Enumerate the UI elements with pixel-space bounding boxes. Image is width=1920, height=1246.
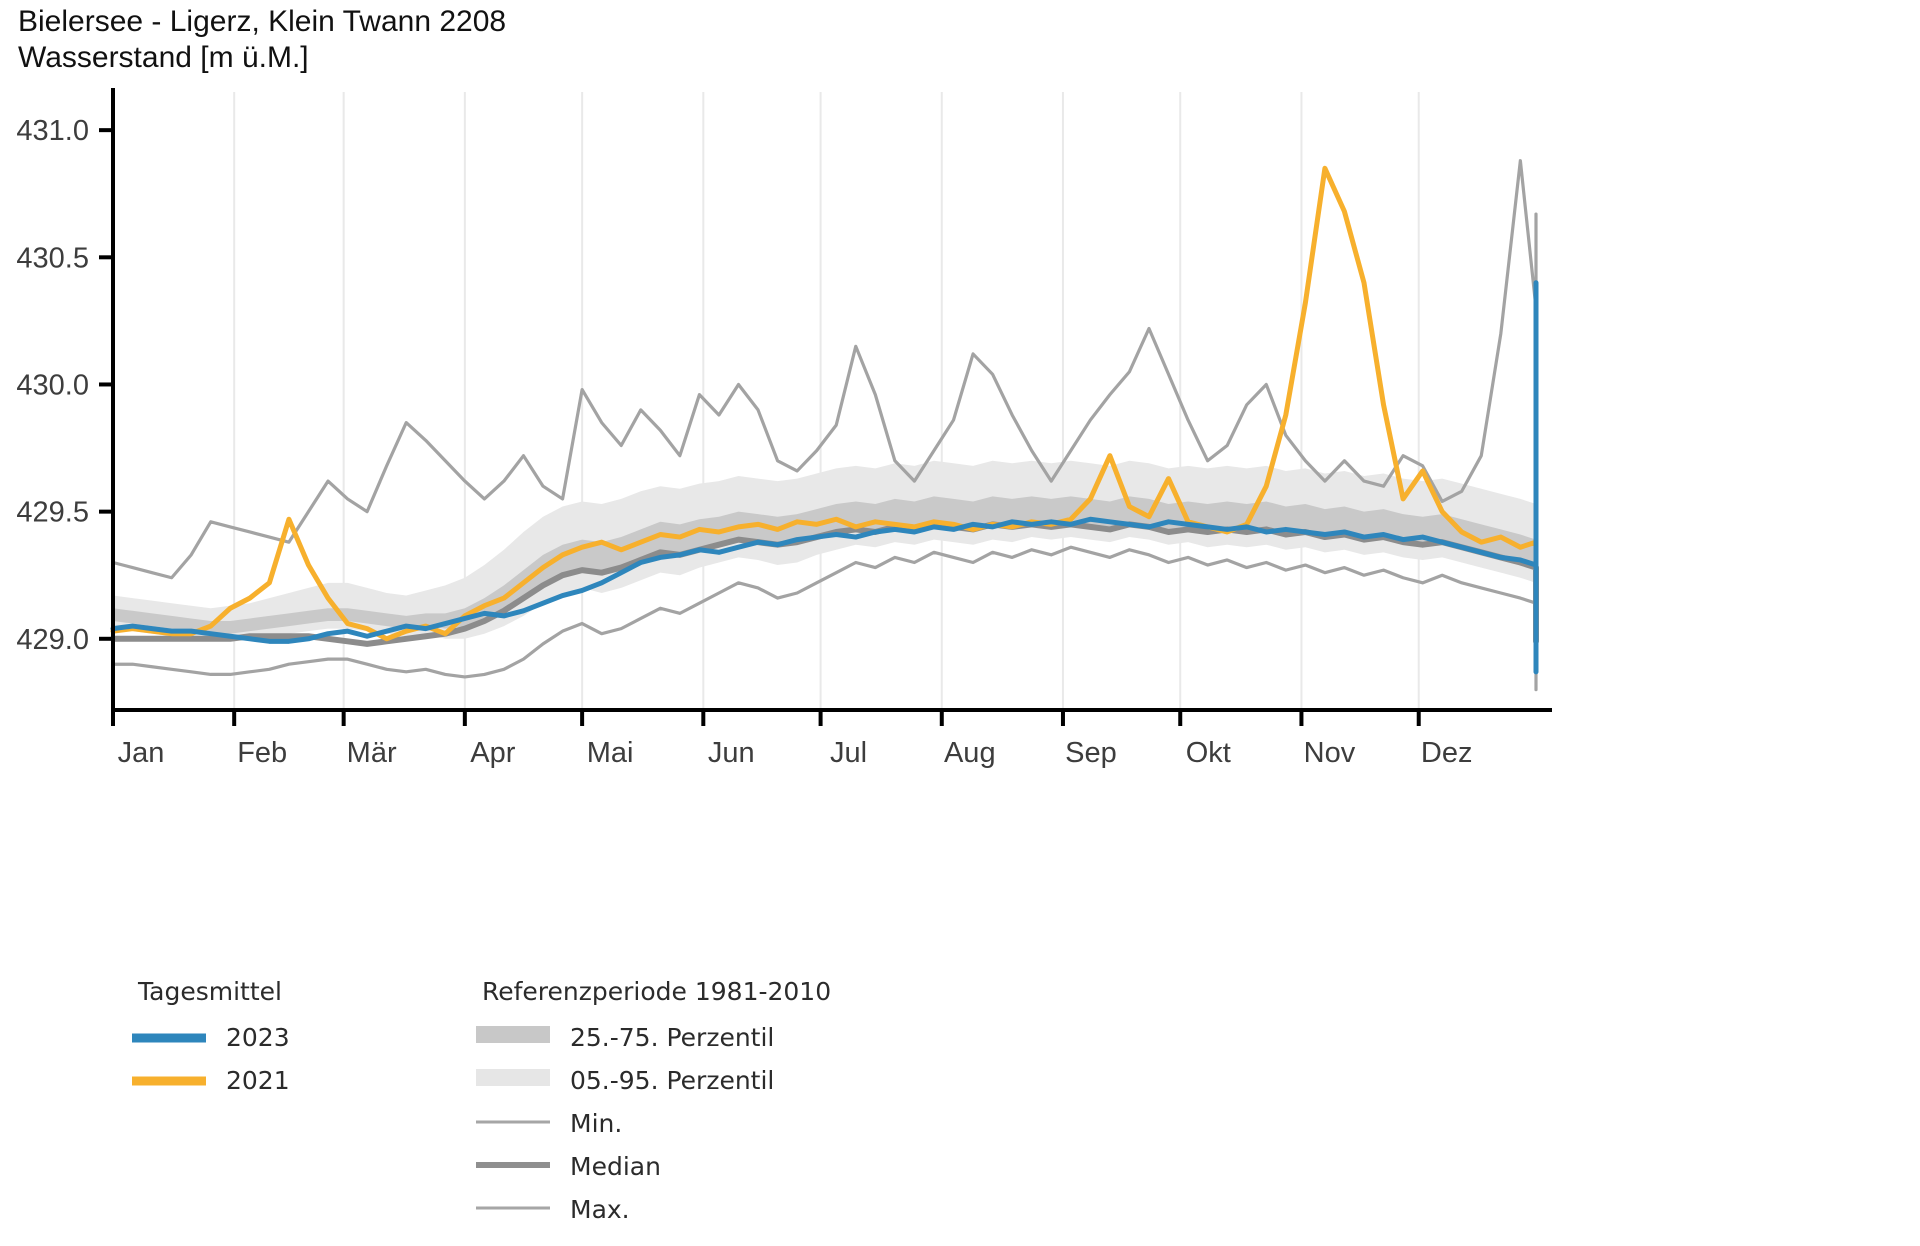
x-tick-label-Mai: Mai [587, 737, 634, 769]
x-tick-label-Mär: Mär [347, 737, 397, 769]
x-tick-label-Okt: Okt [1186, 737, 1231, 769]
y-tick-label-0: 429.0 [16, 624, 89, 656]
legend-label-median: Median [570, 1152, 661, 1181]
chart-legend: Tagesmittel20232021Referenzperiode 1981-… [132, 977, 831, 1224]
y-tick-label-1: 429.5 [16, 497, 89, 529]
legend-label-25-75-perzentil: 25.-75. Perzentil [570, 1023, 774, 1052]
y-tick-label-2: 430.0 [16, 369, 89, 401]
x-tick-label-Dez: Dez [1421, 737, 1473, 769]
y-tick-label-4: 431.0 [16, 115, 89, 147]
legend-label-05-95-perzentil: 05.-95. Perzentil [570, 1066, 774, 1095]
legend-swatch-25-75-perzentil [476, 1026, 550, 1043]
page-title: Bielersee - Ligerz, Klein Twann 2208 Was… [18, 4, 506, 76]
legend-title-tagesmittel: Tagesmittel [137, 977, 282, 1006]
band-25-75-percentile [113, 496, 1536, 638]
legend-swatch-05-95-perzentil [476, 1069, 550, 1086]
y-axis: 429.0429.5430.0430.5431.0 [16, 115, 113, 656]
x-tick-label-Feb: Feb [237, 737, 287, 769]
series-line-2021 [113, 168, 1536, 638]
year-series-lines [113, 168, 1536, 672]
legend-label-2021: 2021 [226, 1066, 290, 1095]
x-tick-label-Jul: Jul [830, 737, 867, 769]
x-tick-label-Aug: Aug [944, 737, 996, 769]
x-tick-label-Jan: Jan [118, 737, 165, 769]
x-tick-label-Jun: Jun [708, 737, 755, 769]
legend-label-2023: 2023 [226, 1023, 290, 1052]
band-05-95-percentile [113, 461, 1536, 657]
title-line-1: Bielersee - Ligerz, Klein Twann 2208 [18, 4, 506, 40]
legend-label-max: Max. [570, 1195, 630, 1224]
title-line-2: Wasserstand [m ü.M.] [18, 40, 506, 76]
percentile-bands [113, 461, 1536, 657]
x-axis: JanFebMärAprMaiJunJulAugSepOktNovDez [113, 710, 1473, 769]
x-tick-label-Sep: Sep [1065, 737, 1117, 769]
water-level-chart: 429.0429.5430.0430.5431.0 JanFebMärAprMa… [0, 0, 1920, 1246]
legend-title-referenzperiode: Referenzperiode 1981-2010 [482, 977, 831, 1006]
y-tick-label-3: 430.5 [16, 242, 89, 274]
legend-label-min: Min. [570, 1109, 622, 1138]
x-tick-label-Nov: Nov [1304, 737, 1356, 769]
x-tick-label-Apr: Apr [470, 737, 515, 769]
